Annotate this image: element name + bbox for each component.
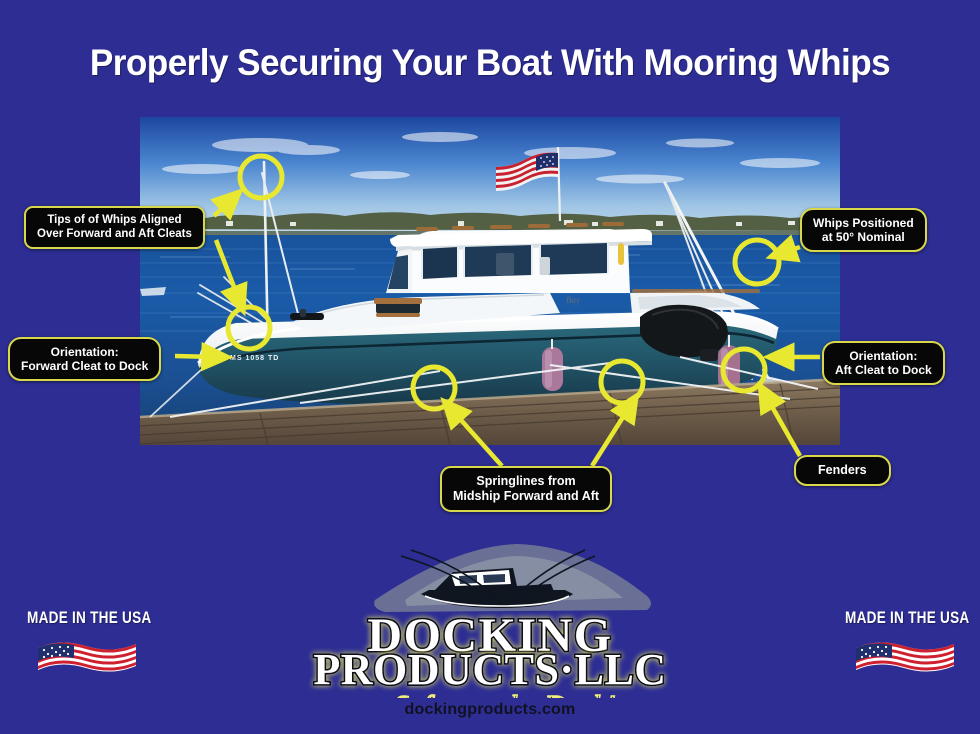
callout-line: Forward Cleat to Dock — [21, 359, 148, 373]
svg-text:Bay: Bay — [566, 295, 580, 305]
callout-line: Fenders — [818, 463, 867, 478]
badge-label: MADE IN THE USA — [845, 608, 965, 628]
website-url: dockingproducts.com — [0, 701, 980, 719]
logo-tagline: Safety at the Dock! — [394, 690, 615, 698]
callout-tips-of-whips: Tips of of Whips Aligned Over Forward an… — [24, 206, 205, 249]
svg-text:MS 1058 TD: MS 1058 TD — [230, 355, 279, 362]
callout-line: Orientation: — [21, 345, 148, 359]
badge-label: MADE IN THE USA — [27, 608, 147, 628]
callout-line: Tips of of Whips Aligned — [37, 214, 192, 228]
callout-line: Over Forward and Aft Cleats — [37, 228, 192, 242]
company-logo: DOCKING PRODUCTS·LLC Safety at the Dock! — [255, 538, 725, 698]
callout-line: Aft Cleat to Dock — [835, 363, 932, 377]
page-title: Properly Securing Your Boat With Mooring… — [25, 42, 956, 84]
callout-line: Whips Positioned — [813, 216, 914, 230]
callout-whips-angle: Whips Positioned at 50° Nominal — [800, 208, 927, 252]
callout-line: Springlines from — [453, 474, 599, 489]
callout-springlines: Springlines from Midship Forward and Aft — [440, 466, 612, 512]
callout-fenders: Fenders — [794, 455, 891, 486]
callout-orientation-forward: Orientation: Forward Cleat to Dock — [8, 337, 161, 381]
us-flag-icon — [850, 632, 960, 680]
us-flag-icon — [32, 632, 142, 680]
badge-made-in-usa-left: MADE IN THE USA — [12, 608, 162, 693]
poster-canvas: Properly Securing Your Boat With Mooring… — [0, 0, 980, 734]
callout-orientation-aft: Orientation: Aft Cleat to Dock — [822, 341, 945, 385]
badge-made-in-usa-right: MADE IN THE USA — [830, 608, 980, 693]
callout-line: Midship Forward and Aft — [453, 489, 599, 504]
boat-photo: MS 1058 TD — [140, 117, 840, 445]
callout-line: at 50° Nominal — [813, 230, 914, 244]
logo-line-2: PRODUCTS·LLC — [313, 645, 666, 694]
callout-line: Orientation: — [835, 349, 932, 363]
